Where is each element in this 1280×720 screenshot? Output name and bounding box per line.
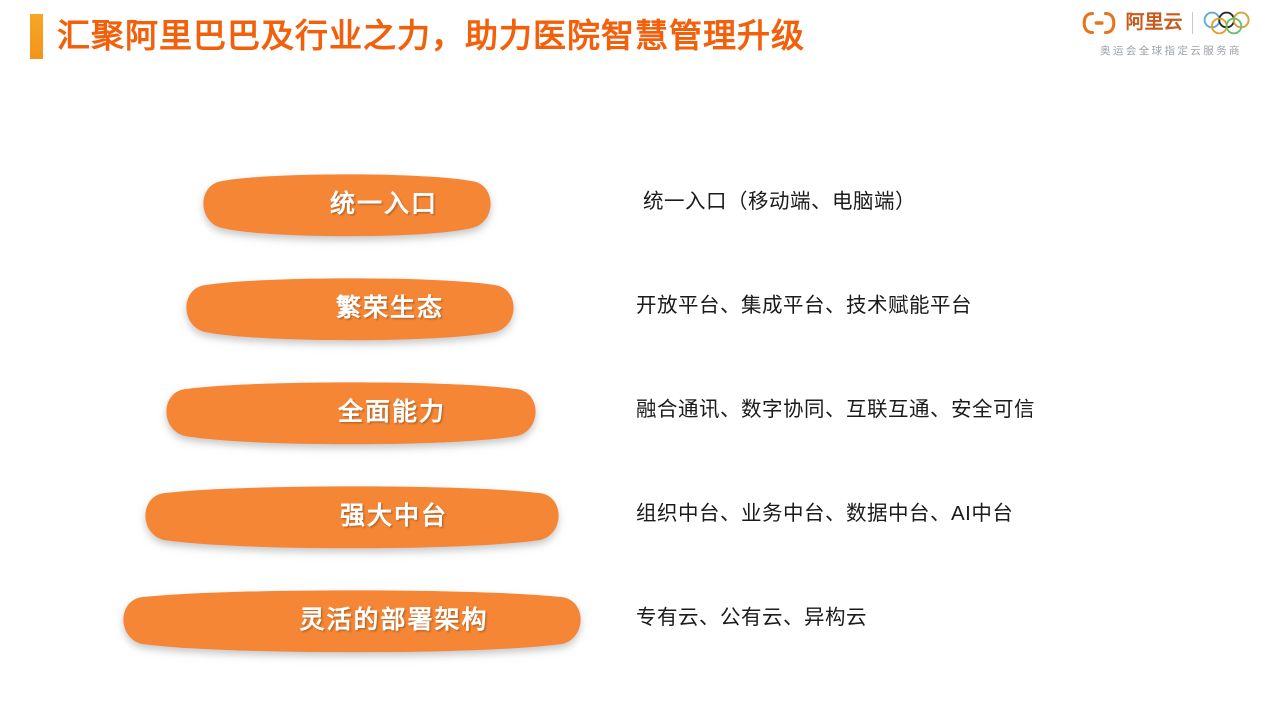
funnel-level-description: 组织中台、业务中台、数据中台、AI中台	[636, 470, 1256, 558]
brand-logo-row: 阿里云	[1080, 8, 1262, 38]
olympic-rings-icon	[1202, 11, 1260, 35]
funnel-band-shape	[0, 574, 620, 662]
brand-divider	[1192, 12, 1193, 34]
funnel-band-shape	[0, 158, 620, 246]
funnel-level[interactable]: 繁荣生态	[0, 262, 620, 350]
title-accent-bar	[30, 14, 43, 59]
funnel-level-description: 统一入口（移动端、电脑端）	[636, 158, 1263, 246]
funnel-level-description: 融合通讯、数字协同、互联互通、安全可信	[636, 366, 1256, 454]
funnel-band-shape	[0, 470, 620, 558]
funnel-level-description: 开放平台、集成平台、技术赋能平台	[636, 262, 1256, 350]
description-list: 统一入口（移动端、电脑端）开放平台、集成平台、技术赋能平台融合通讯、数字协同、互…	[636, 140, 1256, 650]
page-title: 汇聚阿里巴巴及行业之力，助力医院智慧管理升级	[57, 10, 805, 62]
alibaba-cloud-logo-icon	[1082, 12, 1116, 34]
brand-name: 阿里云	[1125, 13, 1182, 33]
funnel-level[interactable]: 全面能力	[0, 366, 620, 454]
brand-logo: 阿里云 奥运会全球指定云服务商	[1080, 8, 1262, 60]
funnel-band-shape	[0, 262, 620, 350]
funnel-band-shape	[0, 366, 620, 454]
slide-canvas: 汇聚阿里巴巴及行业之力，助力医院智慧管理升级 阿里云	[0, 0, 1280, 720]
funnel-level-description: 专有云、公有云、异构云	[636, 574, 1256, 662]
funnel-level[interactable]: 灵活的部署架构	[0, 574, 620, 662]
funnel-level[interactable]: 强大中台	[0, 470, 620, 558]
funnel-diagram: 统一入口繁荣生态全面能力强大中台灵活的部署架构	[0, 140, 620, 650]
brand-tagline: 奥运会全球指定云服务商	[1080, 43, 1262, 58]
slide-header: 汇聚阿里巴巴及行业之力，助力医院智慧管理升级 阿里云	[0, 0, 1280, 74]
funnel-level[interactable]: 统一入口	[0, 158, 620, 246]
